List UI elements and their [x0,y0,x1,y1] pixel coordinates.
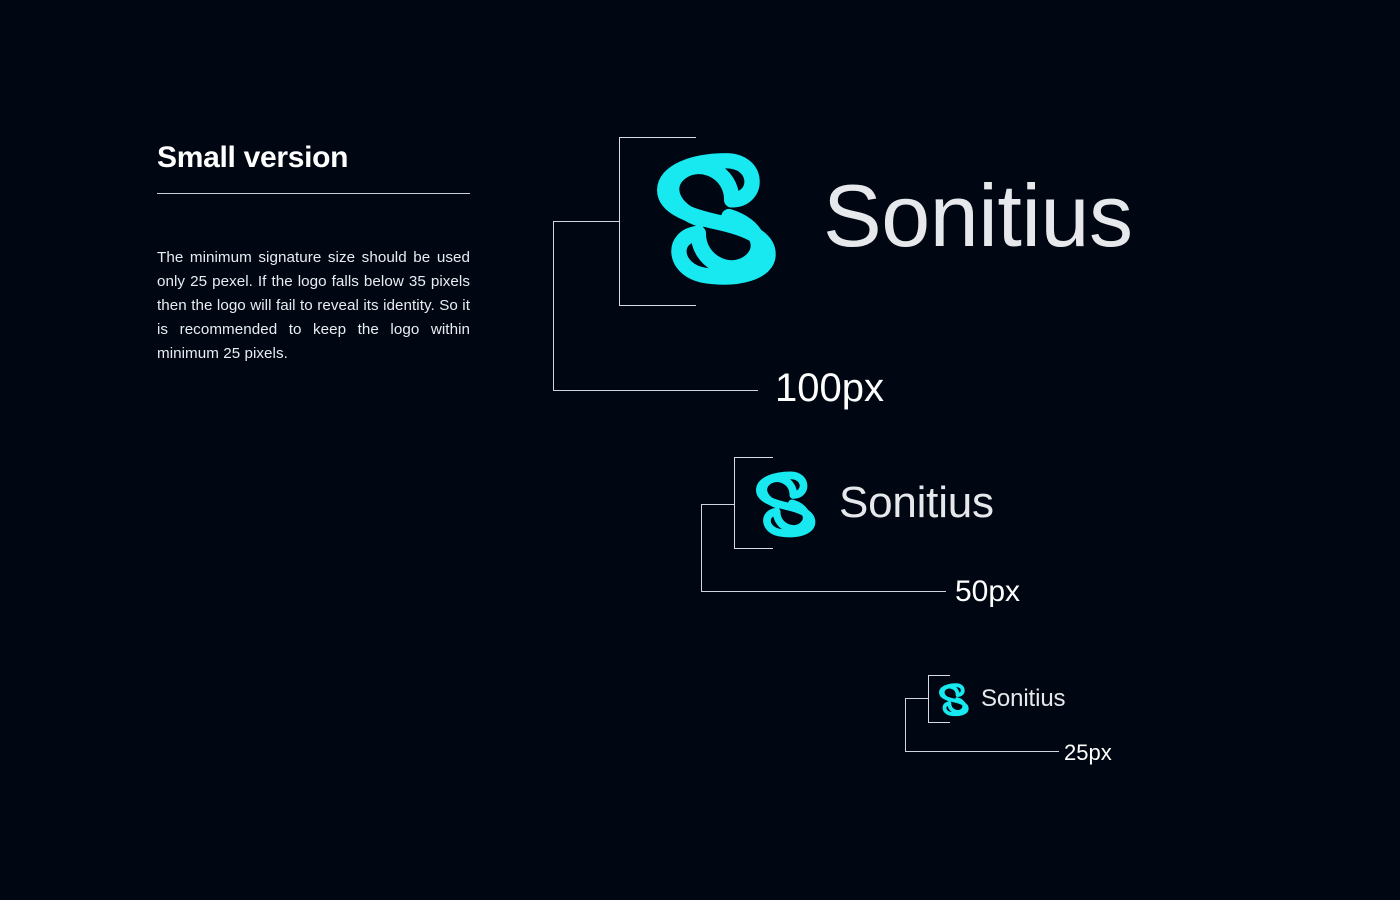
logo-lockup-25: Sonitius [936,681,1065,718]
logo-specimen-25px: 25px Sonitius [0,0,1400,900]
wordmark-25: Sonitius [981,687,1065,711]
leader-line-25 [905,751,1059,752]
sonitius-infinity-mark [936,681,971,718]
brand-guideline-page: Small version The minimum signature size… [0,0,1400,900]
size-label-25px: 25px [1064,740,1112,766]
outer-measure-bracket-25 [905,698,928,752]
